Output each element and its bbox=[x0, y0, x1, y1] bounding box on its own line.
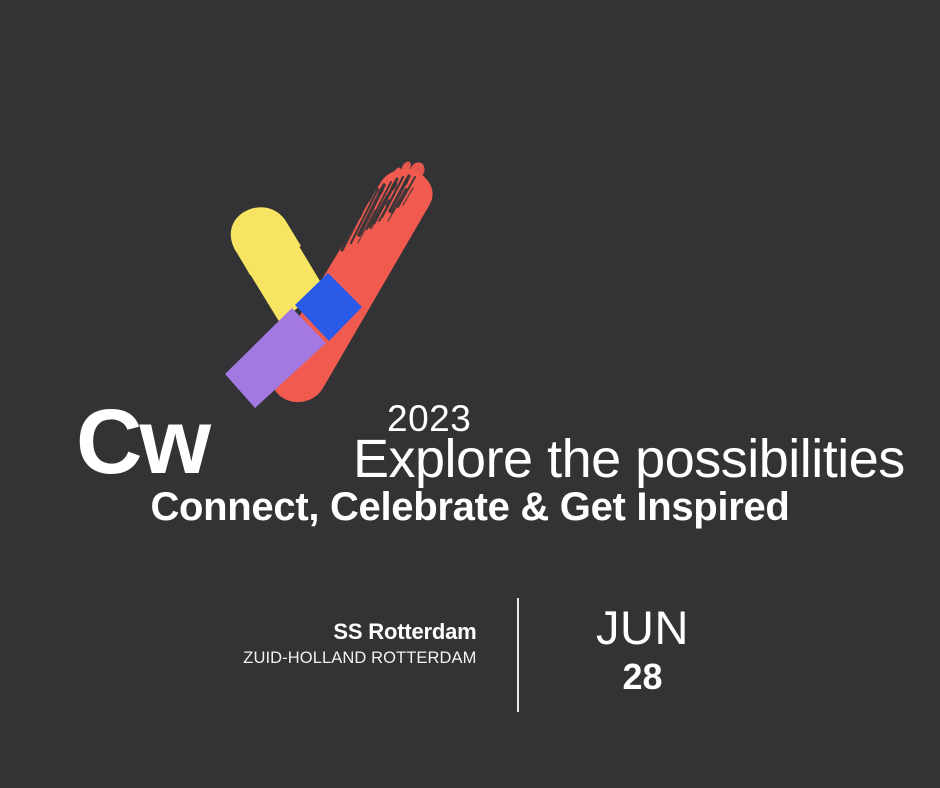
logo-lockup: Cw 2023 Explore the possibilities bbox=[0, 155, 940, 420]
brand-wordmark: Cw bbox=[76, 396, 208, 488]
date-day: 28 bbox=[567, 659, 719, 695]
poster-headline: Connect, Celebrate & Get Inspired bbox=[0, 484, 940, 530]
venue-name: SS Rotterdam bbox=[222, 619, 477, 645]
poster-canvas: Cw 2023 Explore the possibilities Connec… bbox=[0, 0, 940, 788]
date-month: JUN bbox=[567, 604, 719, 651]
cwx-x-mark-icon bbox=[70, 155, 490, 420]
date-block: JUN 28 bbox=[519, 598, 719, 695]
venue-region: ZUID-HOLLAND ROTTERDAM bbox=[222, 648, 477, 669]
venue-block: SS Rotterdam ZUID-HOLLAND ROTTERDAM bbox=[222, 598, 517, 669]
event-footer: SS Rotterdam ZUID-HOLLAND ROTTERDAM JUN … bbox=[0, 598, 940, 718]
brand-tagline: Explore the possibilities bbox=[353, 432, 905, 486]
